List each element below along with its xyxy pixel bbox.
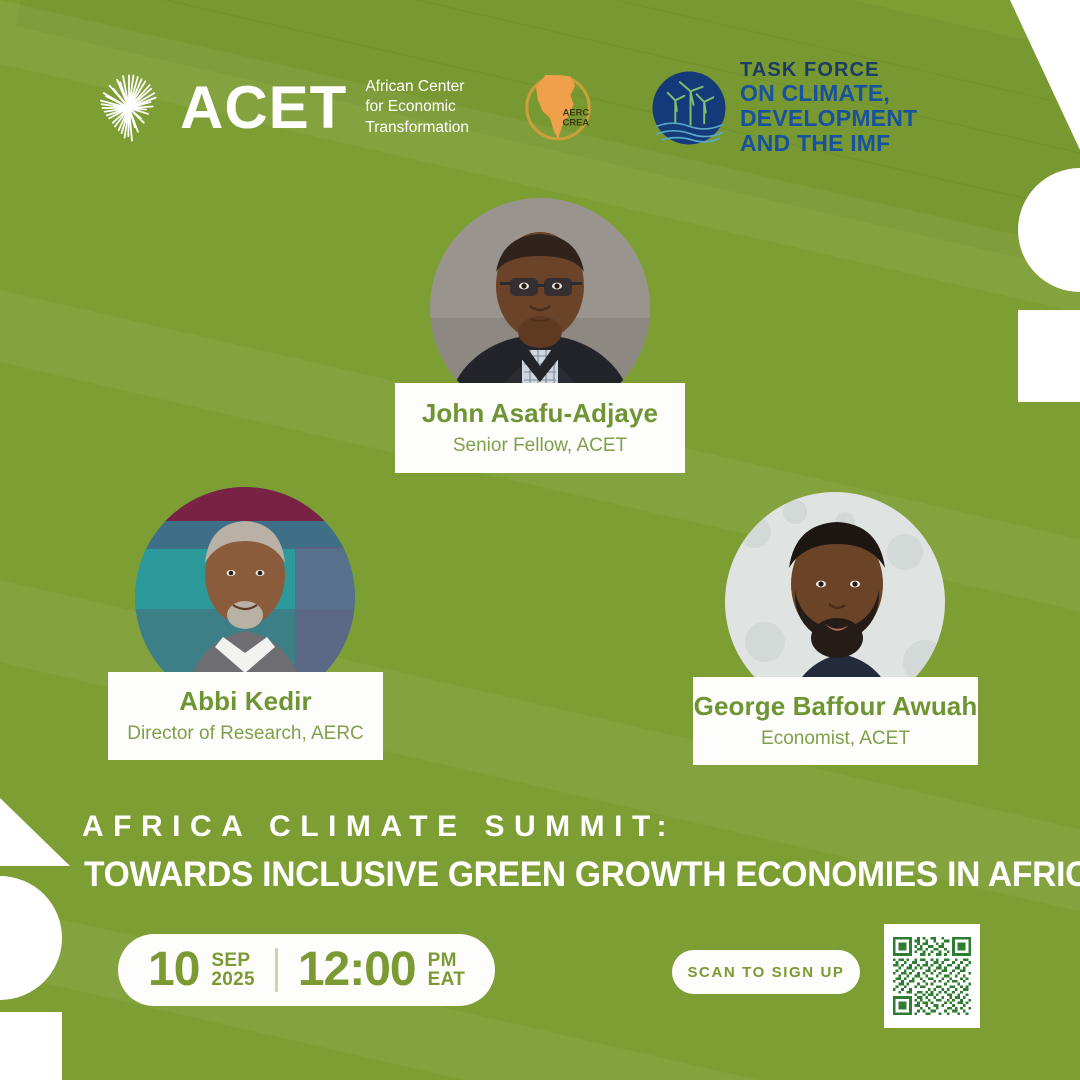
speaker-3-name: George Baffour Awuah xyxy=(694,692,978,722)
acet-logo: ACET African Center for Economic Transfo… xyxy=(92,71,469,145)
acet-africa-starburst-icon xyxy=(92,71,166,145)
speaker-2-name: Abbi Kedir xyxy=(179,687,311,717)
qr-code[interactable] xyxy=(884,924,980,1028)
event-time: 12:00 xyxy=(298,946,416,994)
speaker-card-3: George Baffour Awuah Economist, ACET xyxy=(725,492,945,712)
deco-halfcircle-right xyxy=(1018,168,1080,292)
wind-turbine-circle-icon xyxy=(651,70,727,146)
task-force-text-block: TASK FORCE ON CLIMATE, DEVELOPMENT AND T… xyxy=(740,60,917,155)
event-timezone: EAT xyxy=(428,970,466,989)
qr-code-graphic xyxy=(893,937,971,1015)
aerc-label-2: CREA xyxy=(563,117,590,127)
event-year: 2025 xyxy=(211,970,254,989)
speaker-card-2: Abbi Kedir Director of Research, AERC xyxy=(135,487,355,707)
deco-triangle-top-right xyxy=(1010,0,1080,150)
speaker-1-nameplate: John Asafu-Adjaye Senior Fellow, ACET xyxy=(395,383,685,473)
task-force-line-4: AND THE IMF xyxy=(740,131,917,156)
speaker-2-role: Director of Research, AERC xyxy=(127,723,364,745)
speaker-3-nameplate: George Baffour Awuah Economist, ACET xyxy=(693,677,978,765)
task-force-logo: TASK FORCE ON CLIMATE, DEVELOPMENT AND T… xyxy=(651,60,917,155)
event-month: SEP xyxy=(211,951,254,970)
header-logo-row: ACET African Center for Economic Transfo… xyxy=(92,60,917,155)
event-meridiem: PM xyxy=(428,951,466,970)
poster-canvas: ACET African Center for Economic Transfo… xyxy=(0,0,1080,1080)
task-force-line-1: TASK FORCE xyxy=(740,60,917,81)
event-headline: TOWARDS INCLUSIVE GREEN GROWTH ECONOMIES… xyxy=(84,855,1080,895)
speaker-3-role: Economist, ACET xyxy=(761,728,910,750)
speaker-1-role: Senior Fellow, ACET xyxy=(453,435,627,457)
deco-rectangle-left xyxy=(0,1012,62,1080)
pill-divider xyxy=(275,948,278,992)
event-meridiem-timezone: PM EAT xyxy=(428,951,466,990)
speaker-1-name: John Asafu-Adjaye xyxy=(422,399,658,429)
event-datetime-pill: 10 SEP 2025 12:00 PM EAT xyxy=(118,934,495,1006)
aerc-africa-icon: AERC CREA xyxy=(519,67,597,149)
deco-halfcircle-left xyxy=(0,876,62,1000)
acet-tagline: African Center for Economic Transformati… xyxy=(365,77,469,138)
speaker-2-nameplate: Abbi Kedir Director of Research, AERC xyxy=(108,672,383,760)
event-month-year: SEP 2025 xyxy=(211,951,254,990)
event-eyebrow-title: AFRICA CLIMATE SUMMIT: xyxy=(82,810,676,844)
scan-to-sign-up-button[interactable]: SCAN TO SIGN UP xyxy=(672,950,860,994)
task-force-line-2: ON CLIMATE, xyxy=(740,81,917,106)
deco-rectangle-right xyxy=(1018,310,1080,402)
task-force-line-3: DEVELOPMENT xyxy=(740,106,917,131)
aerc-label-1: AERC xyxy=(563,107,590,117)
deco-triangle-bottom-left xyxy=(0,798,70,866)
acet-wordmark: ACET xyxy=(180,78,347,138)
speaker-card-1: John Asafu-Adjaye Senior Fellow, ACET xyxy=(430,198,650,418)
event-day: 10 xyxy=(148,946,199,994)
